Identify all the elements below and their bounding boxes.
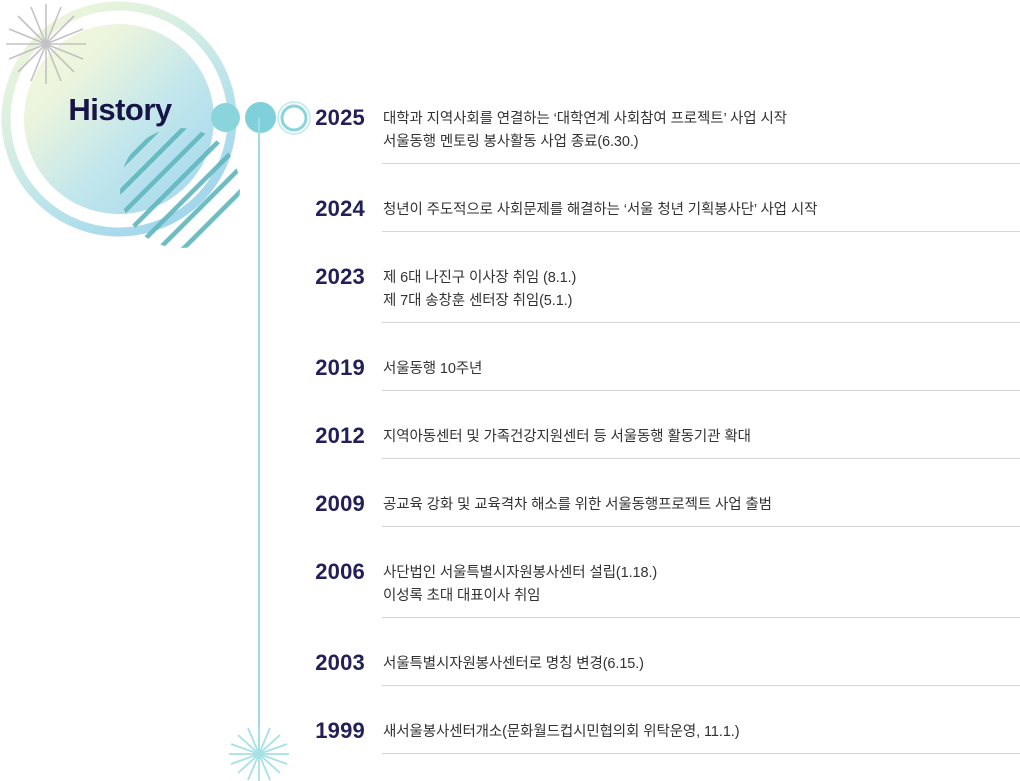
timeline-entry-line: 새서울봉사센터개소(문화월드컵시민협의회 위탁운영, 11.1.) xyxy=(383,721,1020,744)
timeline-entry-line: 이성록 초대 대표이사 취임 xyxy=(383,585,1020,608)
timeline-entry-body: 대학과 지역사회를 연결하는 ‘대학연계 사회참여 프로젝트’ 사업 시작서울동… xyxy=(366,105,1020,154)
timeline-year: 2006 xyxy=(0,559,366,585)
timeline-entry-body: 공교육 강화 및 교육격차 해소를 위한 서울동행프로젝트 사업 출범 xyxy=(366,491,1020,517)
timeline-year: 2025 xyxy=(0,105,366,131)
timeline-entry-body: 지역아동센터 및 가족건강지원센터 등 서울동행 활동기관 확대 xyxy=(366,423,1020,449)
timeline-entry-line: 서울동행 멘토링 봉사활동 사업 종료(6.30.) xyxy=(383,131,1020,154)
timeline-year: 2009 xyxy=(0,491,366,517)
timeline-year: 2003 xyxy=(0,650,366,676)
timeline-divider xyxy=(382,617,1020,618)
timeline-entry-line: 사단법인 서울특별시자원봉사센터 설립(1.18.) xyxy=(383,562,1020,585)
timeline-entry: 2023제 6대 나진구 이사장 취임 (8.1.)제 7대 송창훈 센터장 취… xyxy=(0,264,1020,313)
timeline-entry: 2009공교육 강화 및 교육격차 해소를 위한 서울동행프로젝트 사업 출범 xyxy=(0,491,1020,517)
timeline-entry-line: 지역아동센터 및 가족건강지원센터 등 서울동행 활동기관 확대 xyxy=(383,426,1020,449)
timeline-entry-line: 서울동행 10주년 xyxy=(383,358,1020,381)
timeline-year: 2012 xyxy=(0,423,366,449)
timeline-entry-line: 청년이 주도적으로 사회문제를 해결하는 ‘서울 청년 기획봉사단’ 사업 시작 xyxy=(383,199,1020,222)
timeline-year: 2019 xyxy=(0,355,366,381)
timeline-divider xyxy=(382,231,1020,232)
history-page: History 2025대학과 지역사회를 연결하는 ‘대학연계 사회참여 프로… xyxy=(0,0,1020,781)
starburst-icon xyxy=(6,4,86,84)
timeline-entry-body: 청년이 주도적으로 사회문제를 해결하는 ‘서울 청년 기획봉사단’ 사업 시작 xyxy=(366,196,1020,222)
timeline-divider xyxy=(382,458,1020,459)
timeline-divider xyxy=(382,685,1020,686)
timeline-entry: 2003서울특별시자원봉사센터로 명칭 변경(6.15.) xyxy=(0,650,1020,676)
timeline-entry-body: 제 6대 나진구 이사장 취임 (8.1.)제 7대 송창훈 센터장 취임(5.… xyxy=(366,264,1020,313)
timeline-entry-body: 서울동행 10주년 xyxy=(366,355,1020,381)
timeline-entry-body: 서울특별시자원봉사센터로 명칭 변경(6.15.) xyxy=(366,650,1020,676)
timeline-entry-line: 서울특별시자원봉사센터로 명칭 변경(6.15.) xyxy=(383,653,1020,676)
timeline-entry-body: 새서울봉사센터개소(문화월드컵시민협의회 위탁운영, 11.1.) xyxy=(366,718,1020,744)
timeline-year: 1999 xyxy=(0,718,366,744)
timeline-entry: 1999새서울봉사센터개소(문화월드컵시민협의회 위탁운영, 11.1.) xyxy=(0,718,1020,744)
timeline-entry: 2006사단법인 서울특별시자원봉사센터 설립(1.18.)이성록 초대 대표이… xyxy=(0,559,1020,608)
timeline-divider xyxy=(382,390,1020,391)
timeline-entry-line: 공교육 강화 및 교육격차 해소를 위한 서울동행프로젝트 사업 출범 xyxy=(383,494,1020,517)
timeline-entry-line: 제 6대 나진구 이사장 취임 (8.1.) xyxy=(383,267,1020,290)
timeline-entry: 2024청년이 주도적으로 사회문제를 해결하는 ‘서울 청년 기획봉사단’ 사… xyxy=(0,196,1020,222)
timeline-entry-line: 제 7대 송창훈 센터장 취임(5.1.) xyxy=(383,290,1020,313)
timeline-entry: 2019서울동행 10주년 xyxy=(0,355,1020,381)
timeline-divider xyxy=(382,322,1020,323)
timeline-entry: 2012지역아동센터 및 가족건강지원센터 등 서울동행 활동기관 확대 xyxy=(0,423,1020,449)
timeline-entry: 2025대학과 지역사회를 연결하는 ‘대학연계 사회참여 프로젝트’ 사업 시… xyxy=(0,105,1020,154)
timeline-divider xyxy=(382,163,1020,164)
timeline-entry-body: 사단법인 서울특별시자원봉사센터 설립(1.18.)이성록 초대 대표이사 취임 xyxy=(366,559,1020,608)
timeline-year: 2023 xyxy=(0,264,366,290)
timeline-divider xyxy=(382,753,1020,754)
timeline-divider xyxy=(382,526,1020,527)
timeline-year: 2024 xyxy=(0,196,366,222)
timeline-entry-line: 대학과 지역사회를 연결하는 ‘대학연계 사회참여 프로젝트’ 사업 시작 xyxy=(383,108,1020,131)
